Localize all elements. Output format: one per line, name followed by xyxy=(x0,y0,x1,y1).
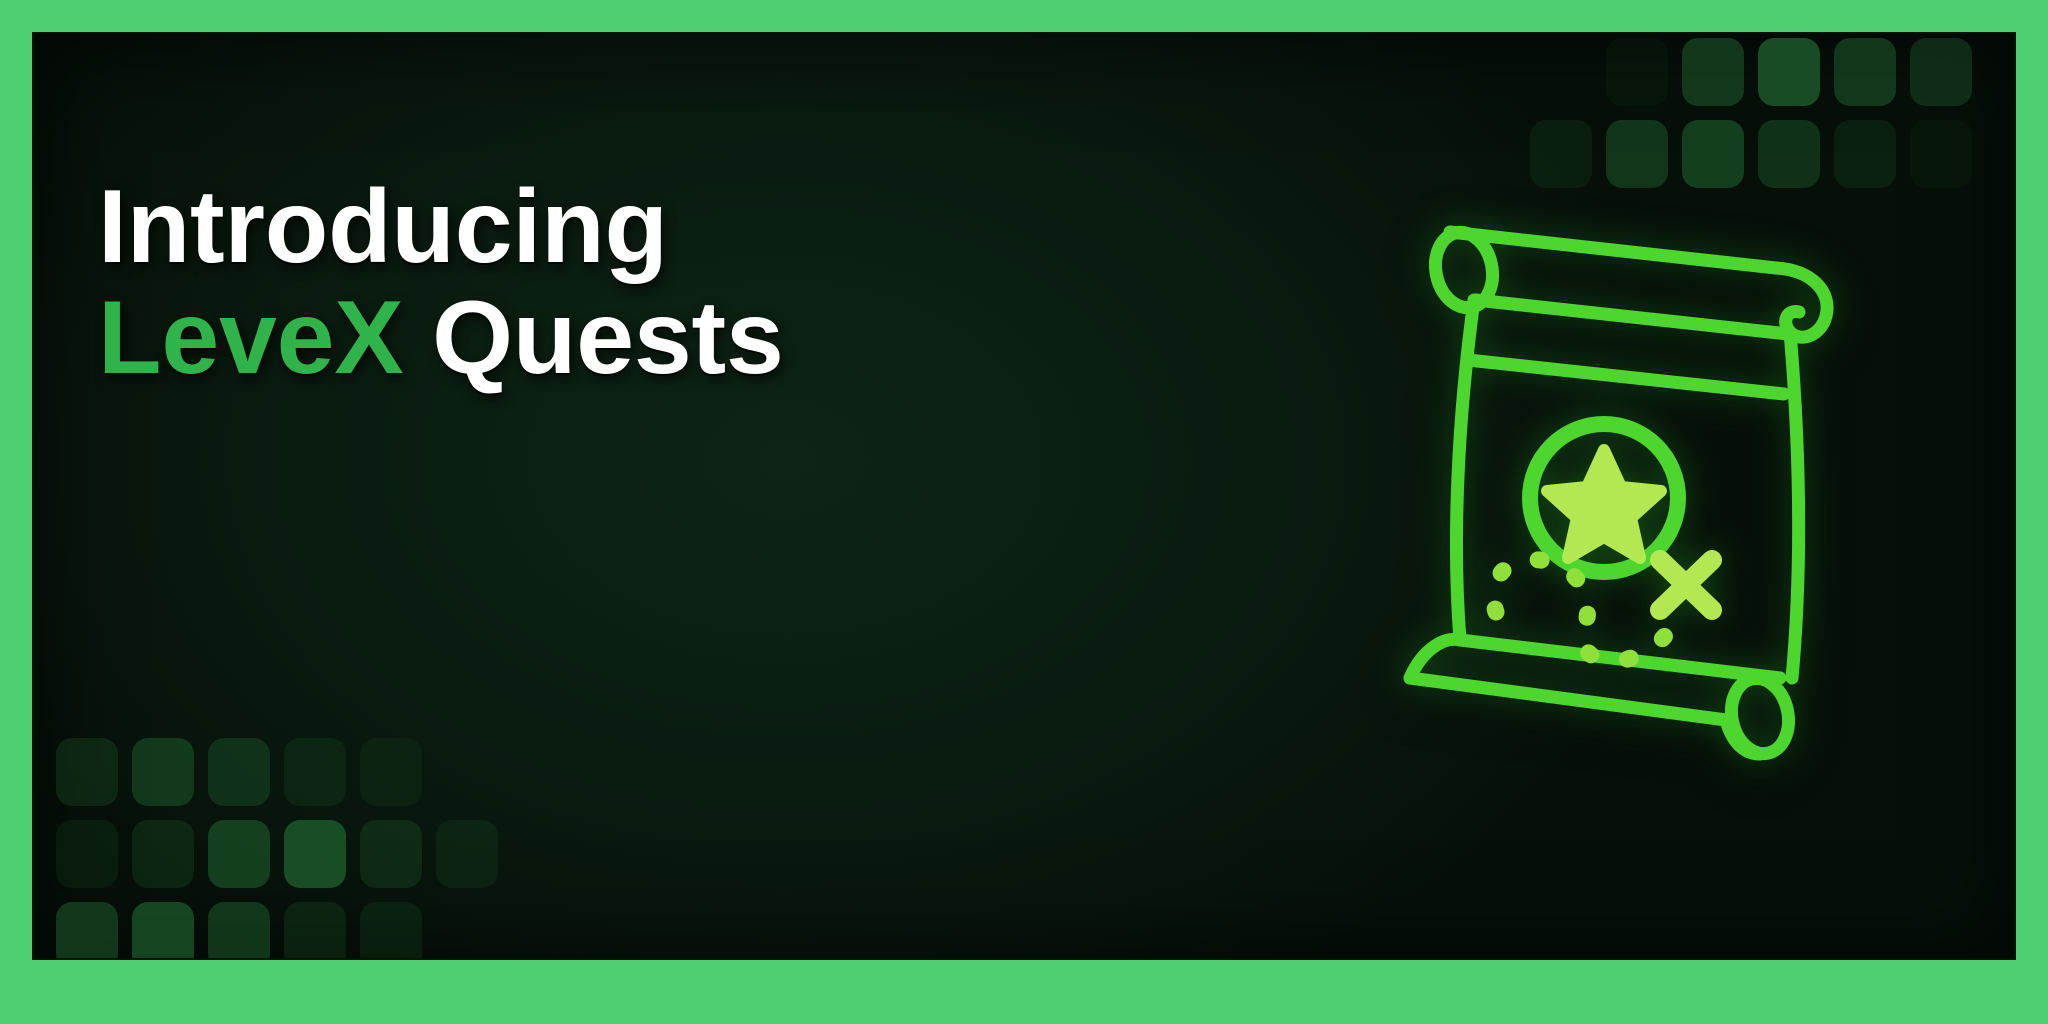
headline-text-introducing: Introducing xyxy=(98,169,668,285)
quest-scroll-icon xyxy=(1388,208,1868,788)
decorative-grid-top-right xyxy=(1530,38,1972,188)
deco-square xyxy=(1910,38,1972,106)
headline-text-quests: Quests xyxy=(403,280,783,396)
deco-square xyxy=(1910,120,1972,188)
deco-square xyxy=(56,902,118,960)
headline-line-1: Introducing xyxy=(98,172,784,283)
deco-square xyxy=(132,902,194,960)
deco-square xyxy=(284,902,346,960)
deco-square xyxy=(1758,38,1820,106)
deco-square xyxy=(1834,38,1896,106)
scroll-bottom-sheet-bottom xyxy=(1410,678,1726,720)
deco-square xyxy=(208,738,270,806)
headline-block: Introducing LeveX Quests xyxy=(98,172,784,395)
deco-square xyxy=(208,902,270,960)
deco-square xyxy=(56,738,118,806)
deco-square xyxy=(436,820,498,888)
deco-square xyxy=(284,820,346,888)
x-marks-the-spot xyxy=(1660,560,1712,610)
deco-square xyxy=(360,902,422,960)
scroll-top-sheet-top xyxy=(1476,300,1788,334)
deco-square xyxy=(1758,120,1820,188)
decorative-grid-bottom-left xyxy=(56,738,498,960)
star-glyph xyxy=(1547,450,1661,558)
deco-square xyxy=(360,820,422,888)
scroll-top-right-curl xyxy=(1776,268,1827,337)
deco-square xyxy=(360,738,422,806)
deco-square xyxy=(1834,120,1896,188)
deco-square xyxy=(1606,120,1668,188)
banner-stage: Introducing LeveX Quests xyxy=(32,32,2016,960)
scroll-left-edge xyxy=(1456,300,1474,640)
deco-square xyxy=(284,738,346,806)
headline-line-2: LeveX Quests xyxy=(98,283,784,394)
deco-square xyxy=(1606,38,1668,106)
deco-square xyxy=(1682,120,1744,188)
scroll-bottom-left-fold xyxy=(1410,639,1460,678)
scroll-top-sheet-bottom xyxy=(1468,360,1784,394)
deco-square xyxy=(208,820,270,888)
banner-frame: Introducing LeveX Quests xyxy=(0,0,2048,1024)
scroll-top-roll-bar xyxy=(1450,232,1776,268)
deco-square xyxy=(132,738,194,806)
brand-name-levex: LeveX xyxy=(98,280,403,396)
deco-square xyxy=(1682,38,1744,106)
deco-square xyxy=(56,820,118,888)
deco-square xyxy=(132,820,194,888)
scroll-right-edge xyxy=(1790,332,1799,678)
deco-square xyxy=(1530,120,1592,188)
